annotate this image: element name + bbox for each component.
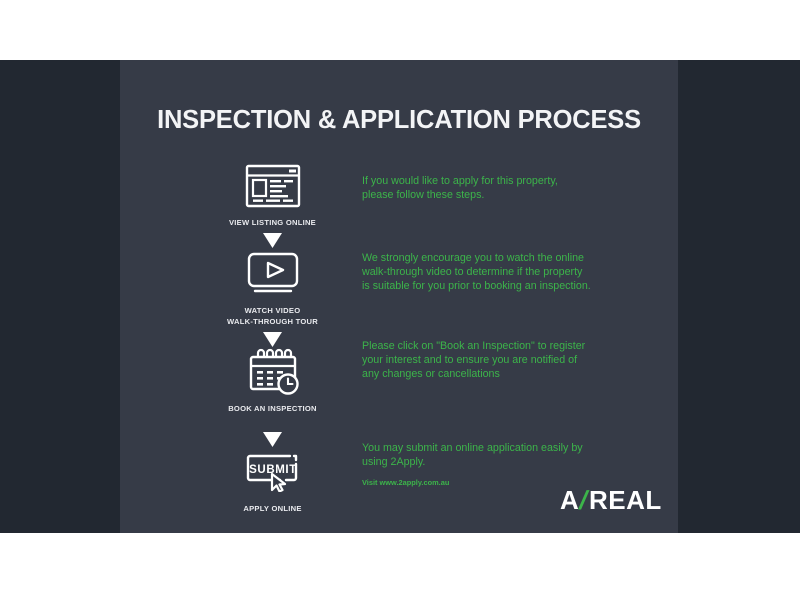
step-label: WATCH VIDEO WALK-THROUGH TOUR xyxy=(200,306,345,327)
step-label: VIEW LISTING ONLINE xyxy=(200,218,345,229)
instruction-text-1: If you would like to apply for this prop… xyxy=(362,174,652,202)
flow-arrow-1-icon xyxy=(200,233,345,248)
step-book-inspection[interactable]: BOOK AN INSPECTION xyxy=(200,346,345,415)
step-label: APPLY ONLINE xyxy=(200,504,345,515)
browser-listing-icon xyxy=(200,160,345,212)
flow-arrow-2-icon xyxy=(200,332,345,347)
video-monitor-play-icon xyxy=(200,248,345,300)
step-apply-online[interactable]: SUBMIT APPLY ONLINE xyxy=(200,446,345,515)
brand-logo: A / REAL xyxy=(560,485,662,516)
logo-word-real: REAL xyxy=(589,485,662,516)
step-watch-video[interactable]: WATCH VIDEO WALK-THROUGH TOUR xyxy=(200,248,345,327)
step-label: BOOK AN INSPECTION xyxy=(200,404,345,415)
instruction-text-2: We strongly encourage you to watch the o… xyxy=(362,251,652,294)
instruction-text-3: Please click on "Book an Inspection" to … xyxy=(362,339,652,382)
flow-arrow-3-icon xyxy=(200,432,345,447)
calendar-clock-icon xyxy=(200,346,345,398)
slide-canvas: INSPECTION & APPLICATION PROCESS xyxy=(0,0,800,600)
step-view-listing-online[interactable]: VIEW LISTING ONLINE xyxy=(200,160,345,229)
page-title: INSPECTION & APPLICATION PROCESS xyxy=(120,106,678,135)
instruction-text-4: You may submit an online application eas… xyxy=(362,441,652,469)
submit-button-cursor-icon: SUBMIT xyxy=(200,446,345,498)
